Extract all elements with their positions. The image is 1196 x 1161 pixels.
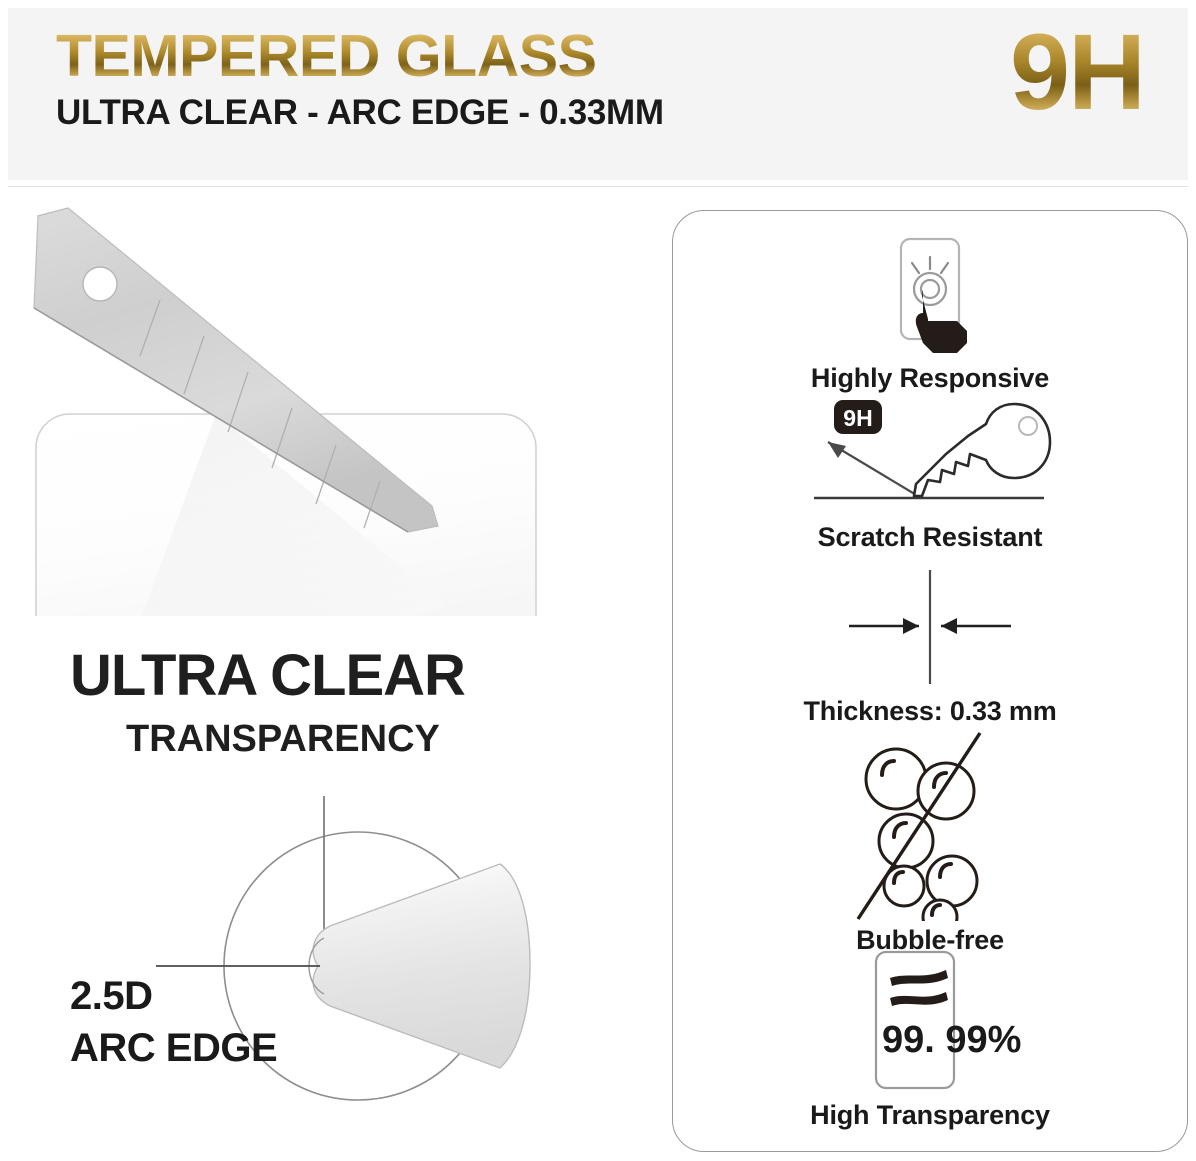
arc-label-25d: 2.5D [70,974,153,1019]
feature-label: Highly Responsive [673,363,1187,394]
transparency-phone-icon: 99. 99% [820,946,1040,1096]
features-panel: Highly Responsive 9H Scratch Resistant [672,210,1188,1152]
blade-hole [83,267,117,301]
hardness-badge-9h: 9H [1010,18,1144,126]
page-title: TEMPERED GLASS [56,26,664,87]
left-column: ULTRA CLEAR TRANSPARENCY [8,196,656,1153]
blade-over-glass-illustration [8,196,656,616]
transparency-value: 99. 99% [882,1019,1021,1061]
feature-bubble-free: Bubble-free [673,731,1187,956]
feature-thickness: Thickness: 0.33 mm [673,566,1187,727]
key-scratch-icon: 9H [800,396,1060,518]
arc-label-arc-edge: ARC EDGE [70,1026,277,1071]
page-subtitle: ULTRA CLEAR - ARC EDGE - 0.33MM [56,93,664,133]
arc-edge-svg [8,786,656,1146]
blade-glass-svg [8,196,656,616]
feature-highly-responsive: Highly Responsive [673,229,1187,394]
feature-label: Scratch Resistant [673,522,1187,553]
ultra-clear-headline: ULTRA CLEAR [70,642,465,709]
thickness-arrows-icon [815,566,1045,692]
header-divider [8,186,1188,187]
feature-label: Thickness: 0.33 mm [673,696,1187,727]
arc-edge-cross-section [313,864,530,1068]
touch-finger-icon [865,229,995,359]
feature-label: High Transparency [673,1100,1187,1131]
feature-scratch-resistant: 9H Scratch Resistant [673,396,1187,553]
svg-text:9H: 9H [843,405,872,431]
arc-edge-illustration [8,786,656,1146]
bubbles-crossed-icon [830,731,1030,921]
feature-high-transparency: 99. 99% High Transparency [673,946,1187,1131]
transparency-subhead: TRANSPARENCY [126,718,440,761]
header-title-block: TEMPERED GLASS ULTRA CLEAR - ARC EDGE - … [56,26,664,133]
